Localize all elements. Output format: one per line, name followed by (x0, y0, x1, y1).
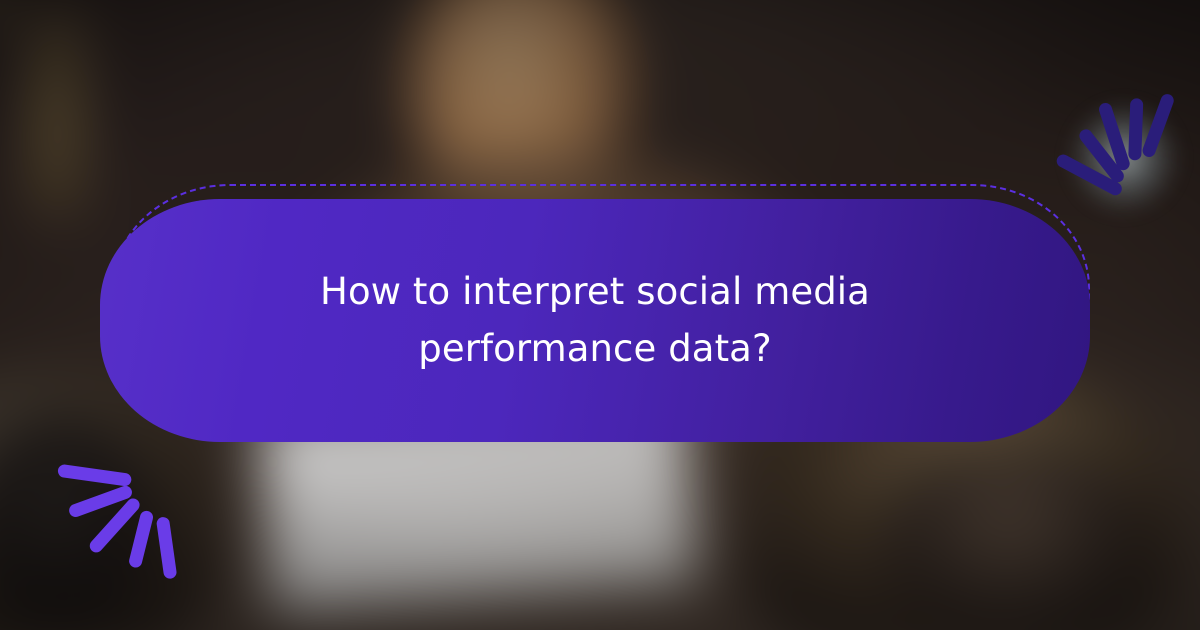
og-card-canvas: How to interpret social media performanc… (0, 0, 1200, 630)
headline-card: How to interpret social media performanc… (100, 199, 1090, 442)
page-title: How to interpret social media performanc… (215, 264, 975, 376)
burst-ray (1128, 98, 1143, 160)
